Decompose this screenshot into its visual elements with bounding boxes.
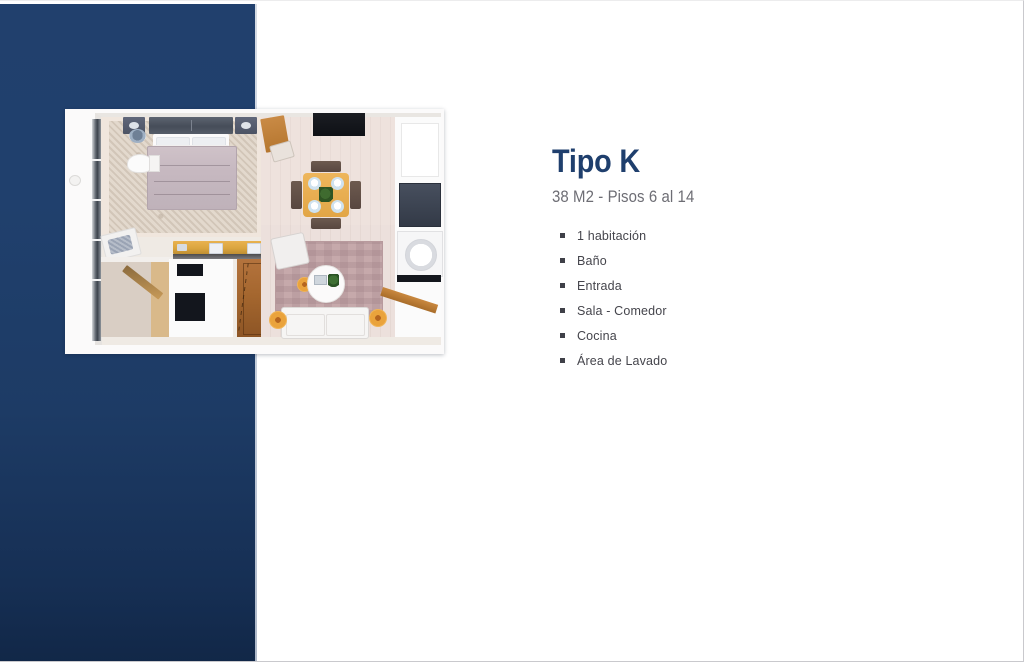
list-item: 1 habitación [552,229,952,243]
dining-chair [291,181,302,209]
floorplan-image [65,109,444,354]
pouf [269,311,287,329]
list-item: Cocina [552,329,952,343]
bathroom-sink [129,129,146,143]
list-item: Área de Lavado [552,354,952,368]
kitchen-sink [177,244,187,251]
bullet-icon [560,308,565,313]
coffee-table [307,265,345,303]
slide-root: Tipo K 38 M2 - Pisos 6 al 14 1 habitació… [0,0,1024,662]
exterior-window-wall [92,119,101,341]
list-item: Sala - Comedor [552,304,952,318]
bed [147,146,237,210]
unit-subtitle: 38 M2 - Pisos 6 al 14 [552,187,904,207]
feature-list: 1 habitación Baño Entrada Sala - Comedor… [552,229,952,368]
sofa [281,307,369,339]
lamp-icon [241,122,251,129]
bullet-icon [560,358,565,363]
dining-chair [311,161,341,172]
room-living-dining [261,117,395,337]
kitchen-counter [173,241,275,254]
bed-headboard [149,117,233,134]
room-bedroom [101,117,261,237]
nightstand-right [235,117,257,134]
laundry-cabinet [399,183,441,227]
bullet-icon [560,258,565,263]
tv-console [313,113,365,136]
kitchen-unit [177,264,203,276]
laundry-shelf [401,123,439,177]
bullet-icon [560,233,565,238]
page-title: Tipo K [552,145,912,179]
stove-icon [209,243,223,254]
bathroom-mirror [69,175,81,186]
pouf [369,309,387,327]
dining-chair [311,218,341,229]
feature-label: 1 habitación [577,229,646,243]
plant-icon [328,274,339,287]
bullet-icon [560,333,565,338]
lamp-icon [129,122,139,129]
floorplan-canvas [65,109,444,354]
washing-machine [397,231,443,277]
feature-label: Área de Lavado [577,354,667,368]
kitchen-unit [175,293,205,321]
laundry-counter [397,275,441,282]
list-item: Entrada [552,279,952,293]
plant-icon [319,187,333,202]
dining-chair [350,181,361,209]
toilet-tank [149,155,160,172]
unit-info-block: Tipo K 38 M2 - Pisos 6 al 14 1 habitació… [552,145,952,379]
feature-label: Entrada [577,279,622,293]
feature-label: Baño [577,254,607,268]
feature-label: Cocina [577,329,617,343]
appliance-icon [247,243,261,254]
list-item: Baño [552,254,952,268]
feature-label: Sala - Comedor [577,304,667,318]
book-icon [314,275,327,285]
bullet-icon [560,283,565,288]
